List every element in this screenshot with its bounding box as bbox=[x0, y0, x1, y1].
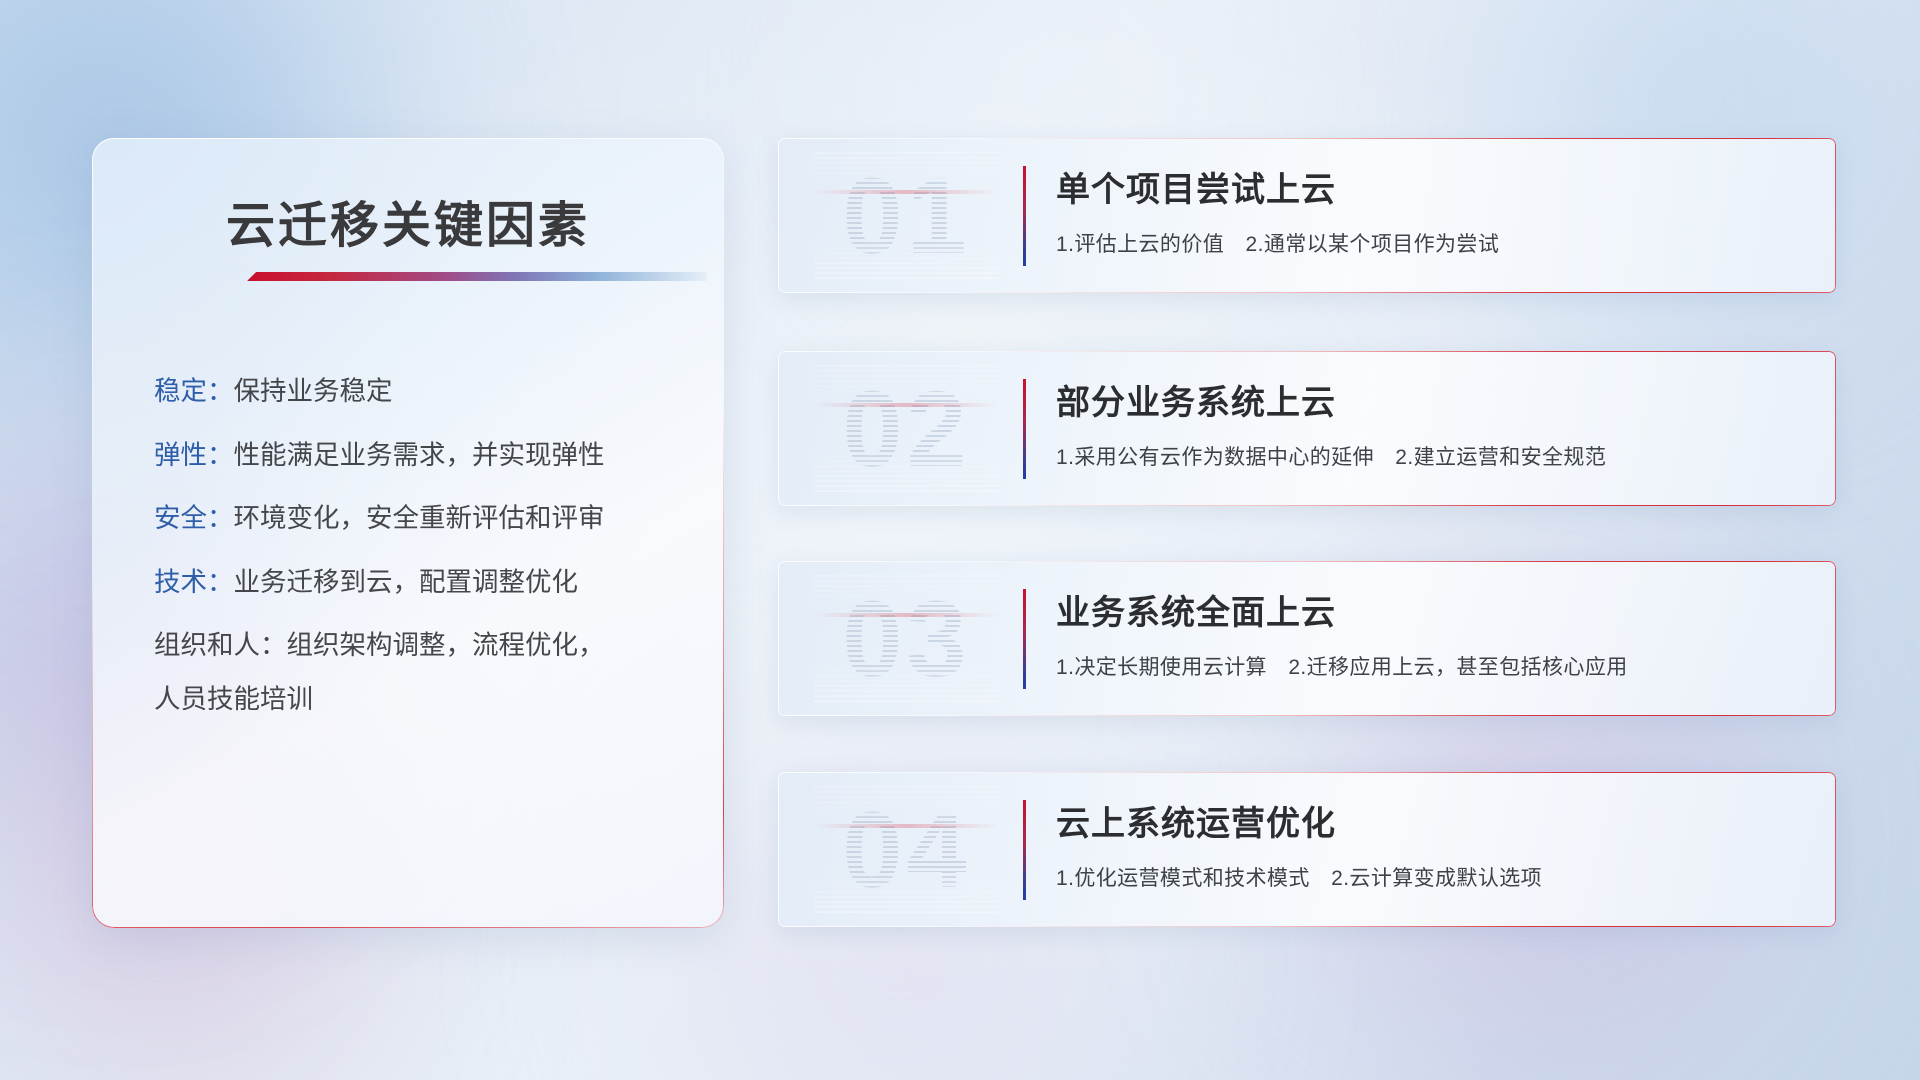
key-factor-item: 稳定：保持业务稳定 bbox=[154, 378, 694, 405]
step-number-03: 03 bbox=[814, 575, 999, 703]
key-factor-item-continuation: 人员技能培训 bbox=[154, 686, 694, 713]
step-title: 云上系统运营优化 bbox=[1056, 796, 1336, 845]
key-factor-item: 安全：环境变化，安全重新评估和评审 bbox=[154, 505, 694, 532]
step-card-01[interactable]: 01 单个项目尝试上云 1.评估上云的价值 2.通常以某个项目作为尝试 bbox=[778, 138, 1836, 293]
step-card-04[interactable]: 04 云上系统运营优化 1.优化运营模式和技术模式 2.云计算变成默认选项 bbox=[778, 772, 1836, 927]
step-title: 部分业务系统上云 bbox=[1056, 375, 1336, 424]
step-divider-bar bbox=[1023, 589, 1026, 689]
step-subtitle: 1.评估上云的价值 2.通常以某个项目作为尝试 bbox=[1056, 228, 1499, 258]
key-factor-item: 技术：业务迁移到云，配置调整优化 bbox=[154, 569, 694, 596]
key-factors-panel: 云迁移关键因素 稳定：保持业务稳定 弹性：性能满足业务需求，并实现弹性 安全：环… bbox=[92, 138, 724, 928]
step-number-02: 02 bbox=[814, 365, 999, 493]
key-factor-label: 稳定： bbox=[154, 376, 234, 406]
key-factor-text: 性能满足业务需求，并实现弹性 bbox=[234, 440, 605, 470]
key-factor-label: 安全： bbox=[154, 503, 234, 533]
slide-canvas: 云迁移关键因素 稳定：保持业务稳定 弹性：性能满足业务需求，并实现弹性 安全：环… bbox=[0, 0, 1920, 1080]
step-divider-bar bbox=[1023, 379, 1026, 479]
step-subtitle: 1.采用公有云作为数据中心的延伸 2.建立运营和安全规范 bbox=[1056, 441, 1606, 471]
key-factor-label: 弹性： bbox=[154, 440, 234, 470]
step-card-03[interactable]: 03 业务系统全面上云 1.决定长期使用云计算 2.迁移应用上云，甚至包括核心应… bbox=[778, 561, 1836, 716]
step-number-04: 04 bbox=[814, 786, 999, 914]
step-number-tint bbox=[814, 824, 999, 828]
title-underline-accent bbox=[247, 272, 707, 281]
key-factor-text: 人员技能培训 bbox=[154, 684, 313, 714]
key-factor-text: 业务迁移到云，配置调整优化 bbox=[234, 567, 579, 597]
key-factor-label: 组织和人： bbox=[154, 630, 287, 660]
step-number-tint bbox=[814, 613, 999, 617]
step-divider-bar bbox=[1023, 166, 1026, 266]
step-number-tint bbox=[814, 403, 999, 407]
step-title: 单个项目尝试上云 bbox=[1056, 162, 1336, 211]
step-subtitle: 1.优化运营模式和技术模式 2.云计算变成默认选项 bbox=[1056, 862, 1542, 892]
key-factor-label: 技术： bbox=[154, 567, 234, 597]
step-title: 业务系统全面上云 bbox=[1056, 585, 1336, 634]
step-number-tint bbox=[814, 190, 999, 194]
key-factor-item: 组织和人：组织架构调整，流程优化， bbox=[154, 632, 694, 659]
step-subtitle: 1.决定长期使用云计算 2.迁移应用上云，甚至包括核心应用 bbox=[1056, 651, 1628, 681]
step-card-02[interactable]: 02 部分业务系统上云 1.采用公有云作为数据中心的延伸 2.建立运营和安全规范 bbox=[778, 351, 1836, 506]
key-factor-item: 弹性：性能满足业务需求，并实现弹性 bbox=[154, 442, 694, 469]
step-number-01: 01 bbox=[814, 152, 999, 280]
key-factors-list: 稳定：保持业务稳定 弹性：性能满足业务需求，并实现弹性 安全：环境变化，安全重新… bbox=[154, 378, 694, 749]
panel-title: 云迁移关键因素 bbox=[92, 186, 724, 257]
step-divider-bar bbox=[1023, 800, 1026, 900]
key-factor-text: 保持业务稳定 bbox=[234, 376, 393, 406]
key-factor-text: 环境变化，安全重新评估和评审 bbox=[234, 503, 605, 533]
key-factor-text: 组织架构调整，流程优化， bbox=[287, 630, 605, 660]
